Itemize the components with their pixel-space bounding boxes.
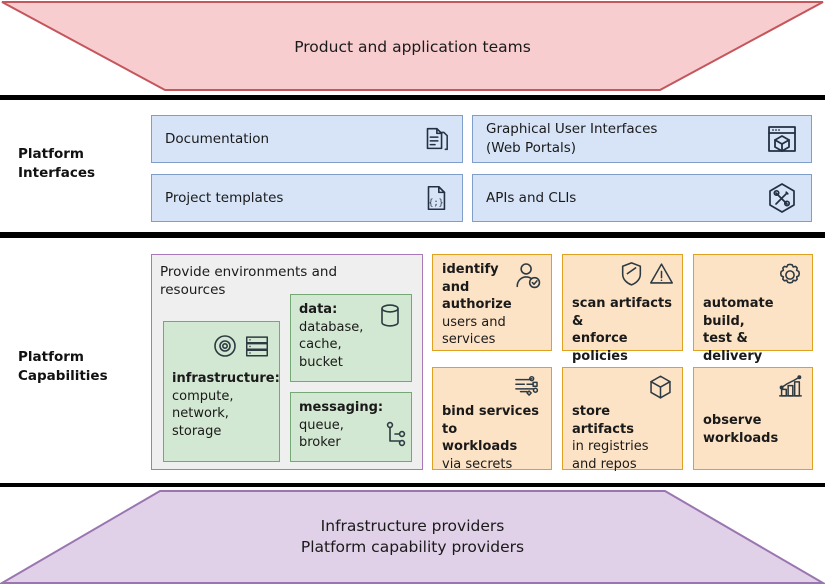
providers-label-line2: Platform capability providers bbox=[0, 537, 825, 558]
messaging-heading: messaging: bbox=[299, 400, 383, 415]
disc-icon bbox=[211, 332, 239, 360]
observe-bold-line1: observe bbox=[703, 413, 762, 428]
capability-card-store-artifacts[interactable]: store artifacts in registries and repos bbox=[562, 367, 683, 470]
bind-plain-line1: via secrets bbox=[442, 457, 512, 472]
capability-card-automate-build[interactable]: automate build, test & delivery bbox=[693, 254, 813, 351]
row-label-line2: Interfaces bbox=[18, 164, 138, 183]
row-label-line1: Platform bbox=[18, 348, 138, 367]
capability-text: observe workloads bbox=[703, 412, 804, 447]
interface-card-documentation[interactable]: Documentation bbox=[151, 115, 463, 163]
tools-hexagon-icon bbox=[765, 181, 799, 215]
infrastructure-line1: compute, bbox=[172, 389, 233, 404]
interface-card-label: Graphical User Interfaces (Web Portals) bbox=[486, 120, 657, 158]
data-line2: cache, bbox=[299, 337, 342, 352]
capability-icons bbox=[703, 261, 804, 287]
infrastructure-text: infrastructure: compute, network, storag… bbox=[172, 370, 271, 440]
bind-bold-line2: workloads bbox=[442, 439, 517, 454]
capability-card-bind-services[interactable]: bind services to workloads via secrets bbox=[432, 367, 552, 470]
automate-bold-line1: automate build, bbox=[703, 296, 774, 329]
cube-icon bbox=[647, 374, 674, 401]
capability-text: bind services to workloads via secrets bbox=[442, 403, 543, 473]
infrastructure-line2: network, bbox=[172, 406, 229, 421]
data-line1: database, bbox=[299, 320, 363, 335]
store-plain-line1: in registries bbox=[572, 439, 649, 454]
capability-text: automate build, test & delivery bbox=[703, 295, 804, 365]
provide-title-line1: Provide environments and bbox=[160, 263, 340, 281]
scan-bold-line1: scan artifacts & bbox=[572, 296, 672, 329]
identify-bold-line2: and authorize bbox=[442, 280, 512, 313]
store-plain-line2: and repos bbox=[572, 457, 637, 472]
documents-icon bbox=[420, 124, 450, 154]
automate-bold-line2: test & delivery bbox=[703, 331, 762, 364]
scan-bold-line2: enforce policies bbox=[572, 331, 628, 364]
capability-card-identify-authorize[interactable]: identify and authorize users and service… bbox=[432, 254, 552, 351]
providers-label-line1: Infrastructure providers bbox=[0, 516, 825, 537]
capability-icons bbox=[572, 261, 674, 287]
interface-card-gui[interactable]: Graphical User Interfaces (Web Portals) bbox=[472, 115, 812, 163]
messaging-line2: broker bbox=[299, 435, 341, 450]
capability-text: store artifacts in registries and repos bbox=[572, 403, 674, 473]
interface-card-label: Documentation bbox=[165, 130, 269, 149]
resource-card-messaging[interactable]: messaging: queue, broker bbox=[290, 392, 412, 462]
capability-icons bbox=[442, 374, 543, 400]
interface-card-label: APIs and CLIs bbox=[486, 189, 576, 208]
interface-card-project-templates[interactable]: Project templates {;} bbox=[151, 174, 463, 222]
infrastructure-icons bbox=[172, 328, 271, 364]
bar-chart-trend-icon bbox=[776, 374, 804, 401]
interface-card-label-line1: Graphical User Interfaces bbox=[486, 120, 657, 139]
database-cylinder-icon bbox=[377, 301, 403, 371]
code-file-icon: {;} bbox=[422, 183, 450, 213]
resource-card-data[interactable]: data: database, cache, bucket bbox=[290, 294, 412, 382]
identify-plain-line1: users and bbox=[442, 315, 506, 330]
capability-card-scan-enforce[interactable]: scan artifacts & enforce policies bbox=[562, 254, 683, 351]
identify-plain-line2: services bbox=[442, 332, 495, 347]
infrastructure-heading: infrastructure: bbox=[172, 371, 280, 386]
capability-icons bbox=[703, 374, 804, 400]
capability-text: identify and authorize users and service… bbox=[442, 261, 543, 349]
data-line3: bucket bbox=[299, 355, 343, 370]
data-heading: data: bbox=[299, 302, 337, 317]
message-broker-icon bbox=[383, 418, 409, 452]
diagram-root: Product and application teams Platform I… bbox=[0, 0, 825, 585]
svg-text:{;}: {;} bbox=[428, 198, 443, 208]
web-portal-icon bbox=[765, 122, 799, 156]
capability-card-observe-workloads[interactable]: observe workloads bbox=[693, 367, 813, 470]
observe-bold-line2: workloads bbox=[703, 431, 778, 446]
interface-card-label-line2: (Web Portals) bbox=[486, 139, 657, 158]
identify-bold-line1: identify bbox=[442, 262, 499, 277]
gear-icon bbox=[776, 261, 804, 289]
row-label-line1: Platform bbox=[18, 145, 138, 164]
platform-interfaces-row-label: Platform Interfaces bbox=[18, 145, 138, 183]
infrastructure-line3: storage bbox=[172, 424, 221, 439]
capability-icons bbox=[572, 374, 674, 400]
interface-card-apis-clis[interactable]: APIs and CLIs bbox=[472, 174, 812, 222]
consumers-label: Product and application teams bbox=[0, 37, 825, 58]
store-bold-line1: store artifacts bbox=[572, 404, 634, 437]
interface-card-label: Project templates bbox=[165, 189, 283, 208]
row-label-line2: Capabilities bbox=[18, 367, 138, 386]
resource-card-infrastructure[interactable]: infrastructure: compute, network, storag… bbox=[163, 321, 280, 462]
binding-connector-icon bbox=[513, 374, 543, 400]
providers-label: Infrastructure providers Platform capabi… bbox=[0, 516, 825, 558]
warning-triangle-icon bbox=[649, 261, 674, 287]
server-stack-icon bbox=[243, 332, 271, 360]
bind-bold-line1: bind services to bbox=[442, 404, 539, 437]
messaging-line1: queue, bbox=[299, 418, 344, 433]
platform-capabilities-row-label: Platform Capabilities bbox=[18, 348, 138, 386]
messaging-text: messaging: queue, broker bbox=[299, 399, 383, 452]
shield-icon bbox=[619, 261, 644, 287]
capability-text: scan artifacts & enforce policies bbox=[572, 295, 674, 365]
data-text: data: database, cache, bucket bbox=[299, 301, 363, 371]
